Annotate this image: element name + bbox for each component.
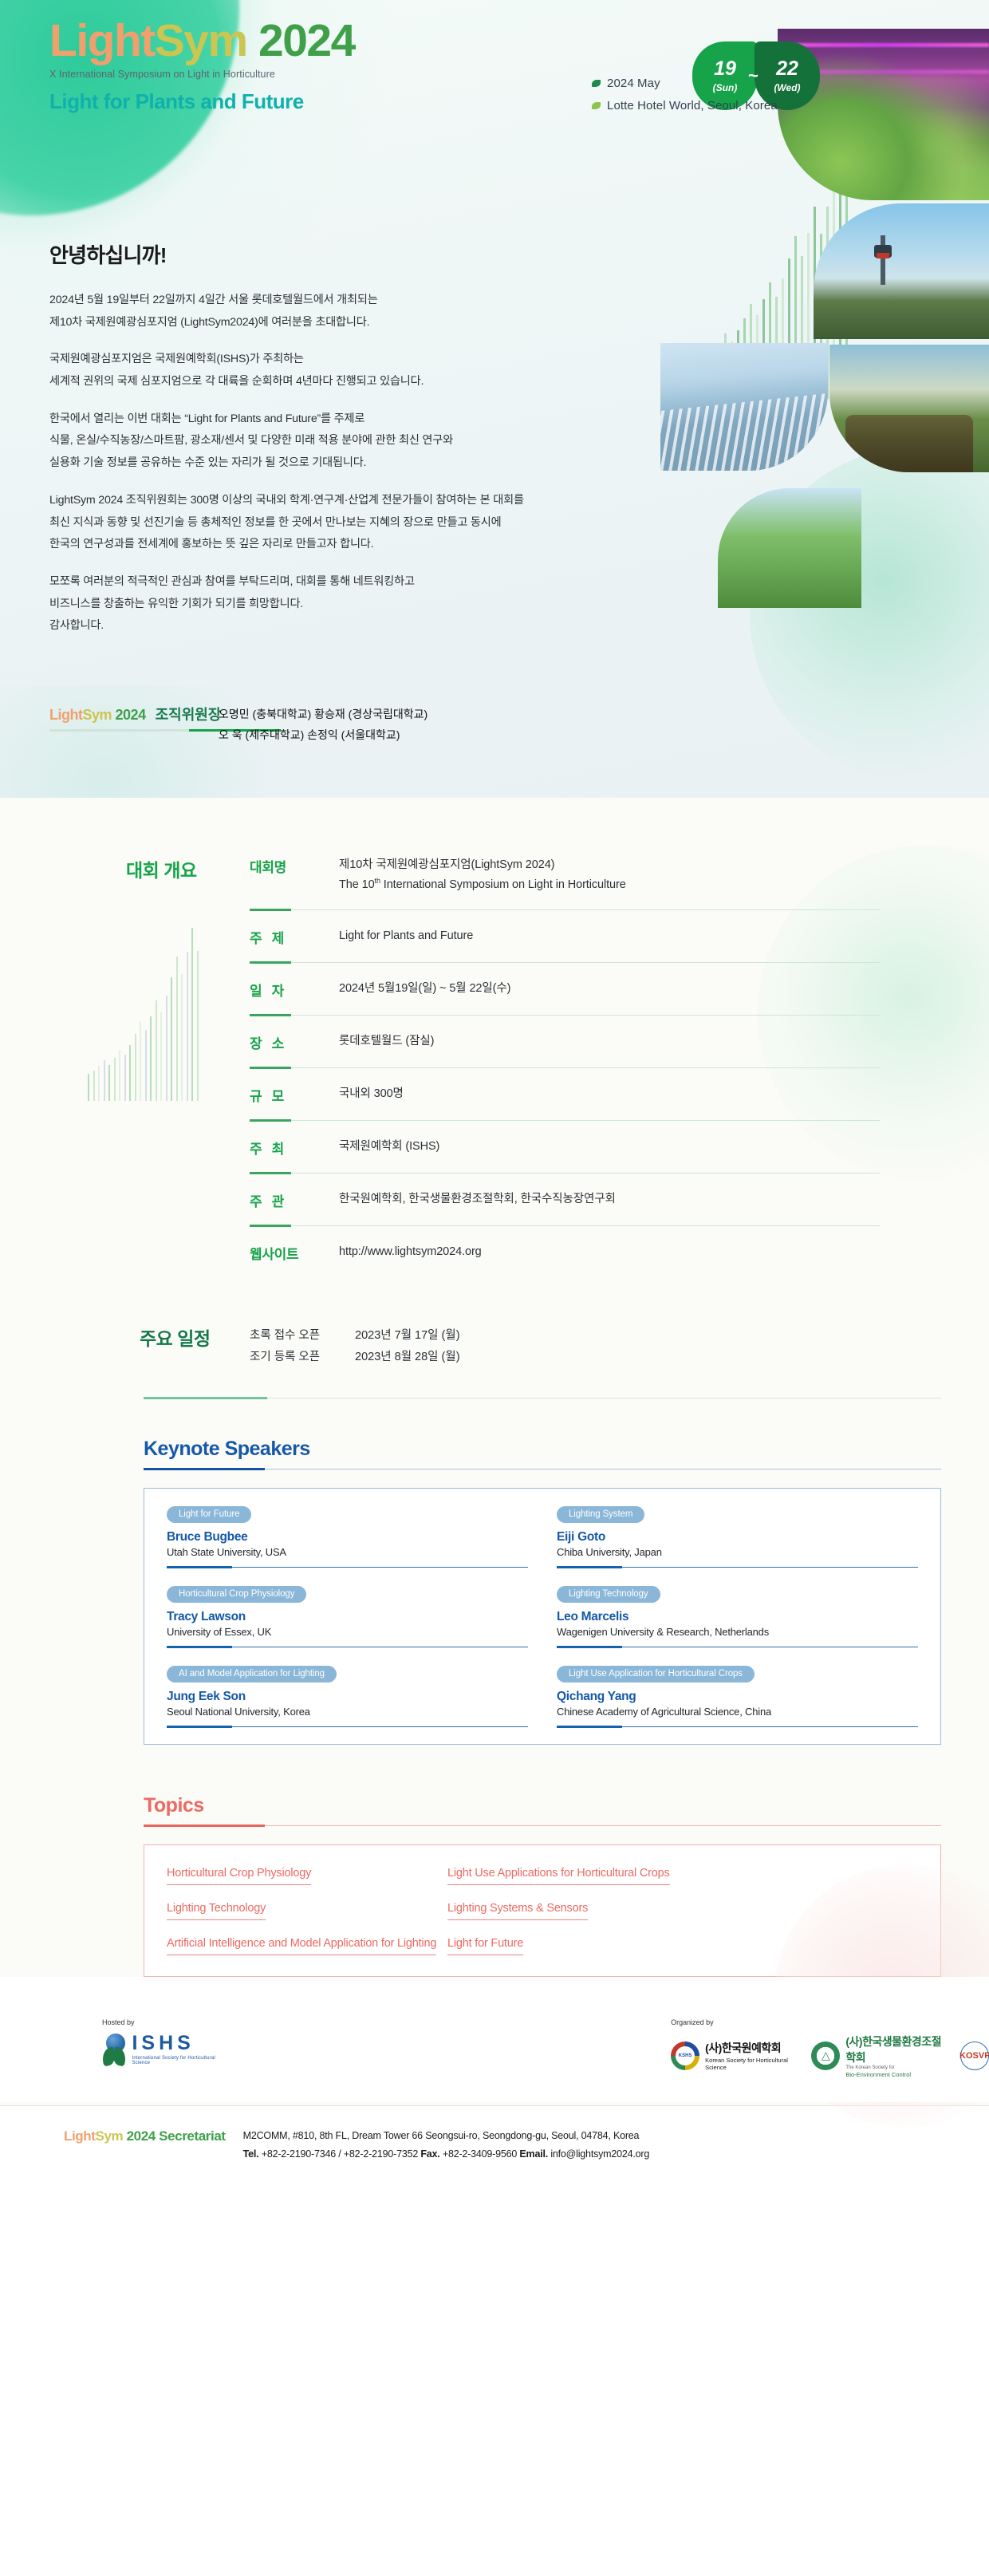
- signature-logo-sym: Sym: [82, 707, 112, 723]
- topic-label: Artificial Intelligence and Model Applic…: [167, 1937, 436, 1955]
- kshs-subtitle: Korean Society for Horticultural Science: [705, 2057, 794, 2071]
- kshs-logo: KSHS (사)한국원예학회 Korean Society for Hortic…: [671, 2040, 794, 2071]
- keynote-speaker-name: Bruce Bugbee: [167, 1530, 528, 1544]
- topic-label: Lighting Technology: [167, 1902, 266, 1920]
- greeting-line: 제10차 국제원예광심포지엄 (LightSym2024)에 여러분을 초대합니…: [49, 312, 592, 334]
- footer-email-value[interactable]: info@lightsym2024.org: [550, 2148, 649, 2160]
- tower-accent-shape: [877, 253, 889, 258]
- ishs-name: ISHS: [132, 2034, 224, 2053]
- overview-row-divider: [250, 1225, 880, 1227]
- footer-logo-year: 2024: [127, 2128, 156, 2144]
- overview-row-value: 한국원예학회, 한국생물환경조절학회, 한국수직농장연구회: [339, 1189, 616, 1209]
- footer-address: M2COMM, #810, 8th FL, Dream Tower 66 Seo…: [243, 2127, 650, 2145]
- organized-by-group: Organized by KSHS (사)한국원예학회 Korean Socie…: [671, 2018, 989, 2078]
- overview-row-value: 국내외 300명: [339, 1084, 404, 1104]
- greeting-line: LightSym 2024 조직위원회는 300명 이상의 국내외 학계·연구계…: [49, 490, 592, 512]
- greeting-line: 모쪼록 여러분의 적극적인 관심과 참여를 부탁드리며, 대회를 통해 네트워킹…: [49, 571, 592, 594]
- keynote-speaker-affiliation: Wagenigen University & Research, Netherl…: [557, 1626, 918, 1638]
- overview-row-label: 웹사이트: [250, 1242, 339, 1263]
- overview-row-label: 규모: [250, 1084, 339, 1105]
- leaf-bullet-icon: [592, 80, 601, 87]
- greeting-line: 한국의 연구성과를 전세계에 홍보하는 뜻 깊은 자리로 만들고자 합니다.: [49, 534, 592, 556]
- kshs-seal-text: KSHS: [679, 2053, 692, 2058]
- overview-row-divider: [250, 961, 880, 964]
- footer-logo-secretariat: Secretariat: [159, 2128, 226, 2144]
- hero-section: LightSym 2024 X International Symposium …: [0, 0, 989, 798]
- content-band: 대회 개요 대회명제10차 국제원예광심포지엄(LightSym 2024)Th…: [0, 798, 989, 2105]
- topic-item[interactable]: Light Use Applications for Horticultural…: [447, 1866, 670, 1885]
- topic-label: Light Use Applications for Horticultural…: [447, 1867, 670, 1885]
- greeting-line: 비즈니스를 창출하는 유익한 기회가 되기를 희망합니다.: [49, 594, 592, 616]
- overview-row-divider: [250, 1119, 880, 1122]
- signature-logo-block: LightSym 2024 조직위원장: [49, 704, 198, 732]
- keynote-speaker-affiliation: Chiba University, Japan: [557, 1546, 918, 1558]
- footer-fax-label: Fax.: [420, 2148, 439, 2160]
- greeting-line: 2024년 5월 19일부터 22일까지 4일간 서울 롯데호텔월드에서 개최되…: [49, 290, 592, 312]
- overview-value-line: The 10th International Symposium on Ligh…: [339, 875, 626, 895]
- signature-block: LightSym 2024 조직위원장 오명민 (충북대학교) 황승재 (경상국…: [49, 704, 428, 746]
- footer-tel-value: +82-2-2190-7346 / +82-2-2190-7352: [262, 2148, 418, 2160]
- overview-row: 주제Light for Plants and Future: [250, 925, 888, 961]
- overview-value-line: Light for Plants and Future: [339, 926, 473, 946]
- greeting-body: 2024년 5월 19일부터 22일까지 4일간 서울 롯데호텔월드에서 개최되…: [49, 290, 592, 637]
- footer-section: LightSym 2024 Secretariat M2COMM, #810, …: [0, 2105, 989, 2187]
- keynote-speaker-name: Jung Eek Son: [167, 1690, 528, 1704]
- hero-meta-venue: Lotte Hotel World, Seoul, Korea: [592, 99, 778, 112]
- overview-row-value: 2024년 5월19일(일) ~ 5월 22일(수): [339, 979, 510, 999]
- overview-row-value: http://www.lightsym2024.org: [339, 1242, 482, 1262]
- leaf-bullet-icon: [592, 102, 601, 109]
- schedule-section: 주요 일정 초록 접수 오픈2023년 7월 17일 (월)조기 등록 오픈20…: [0, 1277, 989, 1399]
- organized-by-caption: Organized by: [671, 2018, 989, 2026]
- signature-logo-light: Light: [49, 707, 82, 723]
- overview-value-line: 국내외 300명: [339, 1084, 404, 1104]
- signature-logo-year: 2024: [116, 707, 146, 723]
- ksbec-seal-icon: △: [811, 2041, 840, 2070]
- keynote-section: Keynote Speakers Light for FutureBruce B…: [0, 1399, 989, 1745]
- greeting-line: 식물, 온실/수직농장/스마트팜, 광소재/센서 및 다양한 미래 적용 분야에…: [49, 430, 592, 452]
- greeting-paragraph: 2024년 5월 19일부터 22일까지 4일간 서울 롯데호텔월드에서 개최되…: [49, 290, 592, 333]
- overview-row: 일자2024년 5월19일(일) ~ 5월 22일(수): [250, 977, 888, 1014]
- overview-row-label: 대회명: [250, 855, 339, 876]
- overview-row-divider: [250, 1067, 880, 1069]
- overview-row-label: 주최: [250, 1137, 339, 1158]
- overview-row: 장소롯데호텔월드 (잠실): [250, 1030, 888, 1067]
- overview-row-divider: [250, 1172, 880, 1174]
- namsan-tower-photo: [814, 203, 989, 339]
- topic-item[interactable]: Artificial Intelligence and Model Applic…: [167, 1936, 447, 1955]
- keynote-speaker-card: Light for FutureBruce BugbeeUtah State U…: [167, 1506, 528, 1586]
- keynote-speaker-affiliation: Chinese Academy of Agricultural Science,…: [557, 1706, 918, 1718]
- date-separator: ~: [748, 65, 758, 86]
- footer-fax-value: +82-2-3409-9560: [443, 2148, 517, 2160]
- footer-contact-line: Tel. +82-2-2190-7346 / +82-2-2190-7352 F…: [243, 2145, 650, 2164]
- ksbec-pretext: The Korean Society for: [845, 2065, 943, 2070]
- schedule-row-key: 초록 접수 오픈: [250, 1325, 355, 1347]
- hero-meta-date-text: 2024 May: [607, 77, 660, 90]
- keynote-card-divider: [557, 1566, 918, 1568]
- logos-section: Hosted by ISHS International Society for…: [0, 1977, 989, 2102]
- keynote-speaker-name: Eiji Goto: [557, 1530, 918, 1544]
- overview-row: 주관한국원예학회, 한국생물환경조절학회, 한국수직농장연구회: [250, 1188, 888, 1225]
- keynote-divider: [144, 1468, 941, 1470]
- overview-value-line: 롯데호텔월드 (잠실): [339, 1032, 434, 1051]
- kosvf-seal-icon: KOSVF: [960, 2041, 989, 2070]
- brand-block: LightSym 2024 X International Symposium …: [49, 18, 355, 114]
- keynote-grid: Light for FutureBruce BugbeeUtah State U…: [167, 1506, 918, 1736]
- keynote-speaker-name: Tracy Lawson: [167, 1610, 528, 1624]
- date-end-day: 22: [776, 59, 798, 79]
- greeting-paragraph: 국제원예광심포지엄은 국제원예학회(ISHS)가 주최하는세계적 권위의 국제 …: [49, 349, 592, 393]
- schedule-row-value: 2023년 8월 28일 (월): [355, 1347, 460, 1368]
- ksbec-name: (사)한국생물환경조절학회: [845, 2034, 943, 2065]
- topics-divider: [144, 1825, 941, 1827]
- topic-label: Lighting Systems & Sensors: [447, 1902, 588, 1920]
- greenhouse-photo: [660, 343, 828, 471]
- keynote-speaker-affiliation: Seoul National University, Korea: [167, 1706, 528, 1718]
- kosvf-seal-text: KOSVF: [959, 2051, 989, 2061]
- field-photo: [718, 488, 861, 608]
- overview-row-label: 장소: [250, 1032, 339, 1052]
- keynote-speaker-card: AI and Model Application for LightingJun…: [167, 1666, 528, 1736]
- overview-row: 주최국제원예학회 (ISHS): [250, 1135, 888, 1172]
- ishs-mark-icon: [102, 2034, 126, 2065]
- keynote-topic-chip: Horticultural Crop Physiology: [167, 1586, 306, 1603]
- topic-label: Horticultural Crop Physiology: [167, 1867, 311, 1885]
- brand-logo-year: 2024: [258, 15, 355, 66]
- schedule-rows: 초록 접수 오픈2023년 7월 17일 (월)조기 등록 오픈2023년 8월…: [250, 1324, 460, 1368]
- signature-logo: LightSym 2024: [49, 707, 146, 724]
- footer-email-label: Email.: [519, 2148, 548, 2160]
- greeting-line: 한국에서 열리는 이번 대회는 “Light for Plants and Fu…: [49, 408, 592, 431]
- keynote-box: Light for FutureBruce BugbeeUtah State U…: [144, 1488, 941, 1745]
- footer-contact: M2COMM, #810, 8th FL, Dream Tower 66 Seo…: [243, 2127, 650, 2164]
- kshs-seal-icon: KSHS: [671, 2041, 699, 2070]
- greeting-paragraph: 한국에서 열리는 이번 대회는 “Light for Plants and Fu…: [49, 408, 592, 475]
- keynote-title: Keynote Speakers: [144, 1438, 989, 1461]
- overview-row-label: 주제: [250, 926, 339, 947]
- keynote-speaker-affiliation: Utah State University, USA: [167, 1546, 528, 1558]
- keynote-speaker-card: Lighting SystemEiji GotoChiba University…: [557, 1506, 918, 1586]
- hosted-by-caption: Hosted by: [102, 2018, 224, 2026]
- overview-value-line: 국제원예학회 (ISHS): [339, 1137, 439, 1157]
- kshs-name: (사)한국원예학회: [705, 2040, 794, 2056]
- keynote-card-divider: [557, 1726, 918, 1728]
- topics-section: Topics Horticultural Crop PhysiologyLigh…: [0, 1745, 989, 1977]
- topic-item[interactable]: Light for Future: [447, 1936, 523, 1955]
- overview-table: 대회명제10차 국제원예광심포지엄(LightSym 2024)The 10th…: [250, 854, 888, 1277]
- keynote-topic-chip: Lighting System: [557, 1506, 644, 1523]
- footer-logo-sym: Sym: [96, 2128, 124, 2144]
- signature-name-row: 오명민 (충북대학교) 황승재 (경상국립대학교): [219, 704, 428, 725]
- footer-logo-light: Light: [64, 2128, 96, 2144]
- ksbec-logo: △ (사)한국생물환경조절학회 The Korean Society for B…: [811, 2034, 943, 2078]
- overview-value-line: 제10차 국제원예광심포지엄(LightSym 2024): [339, 855, 626, 875]
- greeting-paragraph: 모쪼록 여러분의 적극적인 관심과 참여를 부탁드리며, 대회를 통해 네트워킹…: [49, 571, 592, 637]
- overview-row-label: 일자: [250, 979, 339, 1000]
- symposium-theme: Light for Plants and Future: [49, 89, 355, 114]
- topic-label: Light for Future: [447, 1937, 523, 1955]
- overview-row: 규모국내외 300명: [250, 1083, 888, 1119]
- date-start-day: 19: [714, 59, 736, 79]
- overview-heading: 대회 개요: [126, 854, 250, 1277]
- topic-item[interactable]: Horticultural Crop Physiology: [167, 1866, 447, 1885]
- keynote-speaker-card: Light Use Application for Horticultural …: [557, 1666, 918, 1736]
- topic-item[interactable]: Lighting Technology: [167, 1901, 447, 1920]
- hanok-roof-photo: [829, 345, 989, 472]
- greeting-block: 안녕하십니까! 2024년 5월 19일부터 22일까지 4일간 서울 롯데호텔…: [49, 239, 592, 653]
- keynote-card-divider: [557, 1646, 918, 1648]
- keynote-speaker-affiliation: University of Essex, UK: [167, 1626, 528, 1638]
- schedule-row: 조기 등록 오픈2023년 8월 28일 (월): [250, 1347, 460, 1368]
- signature-names: 오명민 (충북대학교) 황승재 (경상국립대학교) 오 욱 (제주대학교) 손정…: [219, 704, 428, 746]
- schedule-heading: 주요 일정: [140, 1324, 250, 1368]
- keynote-speaker-name: Qichang Yang: [557, 1690, 918, 1704]
- keynote-speaker-name: Leo Marcelis: [557, 1610, 918, 1624]
- greeting-line: 국제원예광심포지엄은 국제원예학회(ISHS)가 주최하는: [49, 349, 592, 371]
- keynote-speaker-card: Lighting TechnologyLeo MarcelisWagenigen…: [557, 1586, 918, 1666]
- footer-logo: LightSym 2024 Secretariat: [64, 2127, 226, 2144]
- keynote-topic-chip: Lighting Technology: [557, 1586, 660, 1603]
- greeting-line: 실용화 기술 정보를 공유하는 수준 있는 자리가 될 것으로 기대됩니다.: [49, 452, 592, 475]
- ishs-logo: ISHS International Society for Horticult…: [102, 2034, 224, 2065]
- greeting-line: 세계적 권위의 국제 심포지엄으로 각 대륙을 순회하며 4년마다 진행되고 있…: [49, 371, 592, 393]
- kosvf-logo: KOSVF: [960, 2041, 989, 2070]
- ksbec-subtitle: Bio-Environment Control: [845, 2071, 943, 2078]
- topics-row: Horticultural Crop PhysiologyLight Use A…: [167, 1866, 918, 1885]
- overview-row-value: 롯데호텔월드 (잠실): [339, 1032, 434, 1051]
- signature-name-row: 오 욱 (제주대학교) 손정익 (서울대학교): [219, 725, 428, 746]
- overview-row-divider: [250, 909, 880, 911]
- keynote-card-divider: [167, 1726, 528, 1728]
- keynote-topic-chip: Light for Future: [167, 1506, 251, 1523]
- brand-logo: LightSym 2024: [49, 18, 355, 65]
- overview-value-line: http://www.lightsym2024.org: [339, 1242, 482, 1262]
- overview-row-value: Light for Plants and Future: [339, 926, 473, 946]
- brand-logo-light: Light: [49, 15, 155, 66]
- keynote-topic-chip: AI and Model Application for Lighting: [167, 1666, 337, 1682]
- keynote-topic-chip: Light Use Application for Horticultural …: [557, 1666, 755, 1682]
- greeting-paragraph: LightSym 2024 조직위원회는 300명 이상의 국내외 학계·연구계…: [49, 490, 592, 556]
- overview-row: 웹사이트http://www.lightsym2024.org: [250, 1241, 888, 1277]
- keynote-card-divider: [167, 1646, 528, 1648]
- overview-value-line: 한국원예학회, 한국생물환경조절학회, 한국수직농장연구회: [339, 1189, 616, 1209]
- overview-row: 대회명제10차 국제원예광심포지엄(LightSym 2024)The 10th…: [250, 854, 888, 909]
- greeting-title: 안녕하십니까!: [49, 239, 592, 269]
- tower-shape: [881, 235, 885, 285]
- overview-row-label: 주관: [250, 1189, 339, 1210]
- overview-row-value: 제10차 국제원예광심포지엄(LightSym 2024)The 10th In…: [339, 855, 626, 894]
- greeting-line: 감사합니다.: [49, 615, 592, 637]
- footer-tel-label: Tel.: [243, 2148, 259, 2160]
- ishs-subtitle: International Society for Horticultural …: [132, 2056, 224, 2065]
- topics-title: Topics: [144, 1794, 989, 1817]
- date-end-weekday: (Wed): [774, 82, 800, 93]
- schedule-row-value: 2023년 7월 17일 (월): [355, 1325, 460, 1347]
- symposium-subtitle: X International Symposium on Light in Ho…: [49, 69, 355, 80]
- poster-page: LightSym 2024 X International Symposium …: [0, 0, 989, 2187]
- overview-row-divider: [250, 1014, 880, 1016]
- hosted-by-group: Hosted by ISHS International Society for…: [102, 2018, 224, 2065]
- keynote-card-divider: [167, 1566, 528, 1568]
- topic-item[interactable]: Lighting Systems & Sensors: [447, 1901, 588, 1920]
- overview-row-value: 국제원예학회 (ISHS): [339, 1137, 439, 1157]
- schedule-row-key: 조기 등록 오픈: [250, 1347, 355, 1368]
- brand-logo-sym: Sym: [155, 15, 247, 66]
- keynote-speaker-card: Horticultural Crop PhysiologyTracy Lawso…: [167, 1586, 528, 1666]
- greeting-line: 최신 지식과 동향 및 선진기술 등 총체적인 정보를 한 곳에서 만나보는 지…: [49, 512, 592, 535]
- overview-section: 대회 개요 대회명제10차 국제원예광심포지엄(LightSym 2024)Th…: [0, 798, 989, 1277]
- schedule-row: 초록 접수 오픈2023년 7월 17일 (월): [250, 1325, 460, 1347]
- overview-value-line: 2024년 5월19일(일) ~ 5월 22일(수): [339, 979, 510, 999]
- signature-role: 조직위원장: [156, 704, 222, 724]
- hero-meta-venue-text: Lotte Hotel World, Seoul, Korea: [607, 99, 778, 112]
